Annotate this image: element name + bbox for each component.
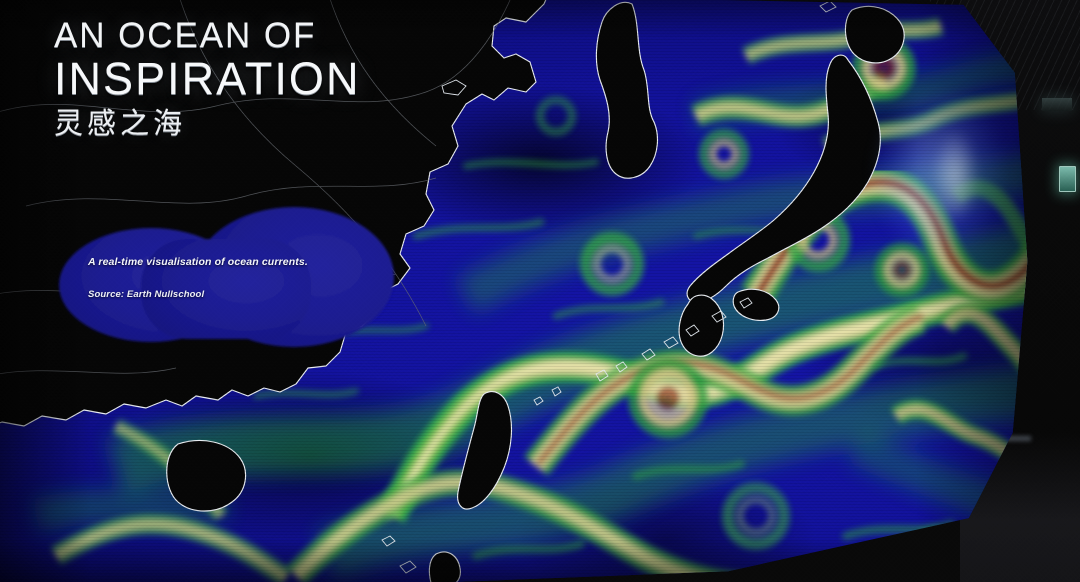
ceiling-light-fixture-icon: [1042, 98, 1072, 111]
led-wall-display[interactable]: AN OCEAN OF INSPIRATION 灵感之海: [0, 0, 1042, 582]
caption-blob: A real-time visualisation of ocean curre…: [46, 201, 396, 361]
caption-source: Source: Earth Nullschool: [88, 289, 358, 300]
exit-sign-icon: [1059, 166, 1076, 192]
exhibit-photo: AN OCEAN OF INSPIRATION 灵感之海: [0, 0, 1080, 582]
caption-description: A real-time visualisation of ocean curre…: [88, 256, 358, 270]
caption-text-group: A real-time visualisation of ocean curre…: [88, 256, 358, 300]
